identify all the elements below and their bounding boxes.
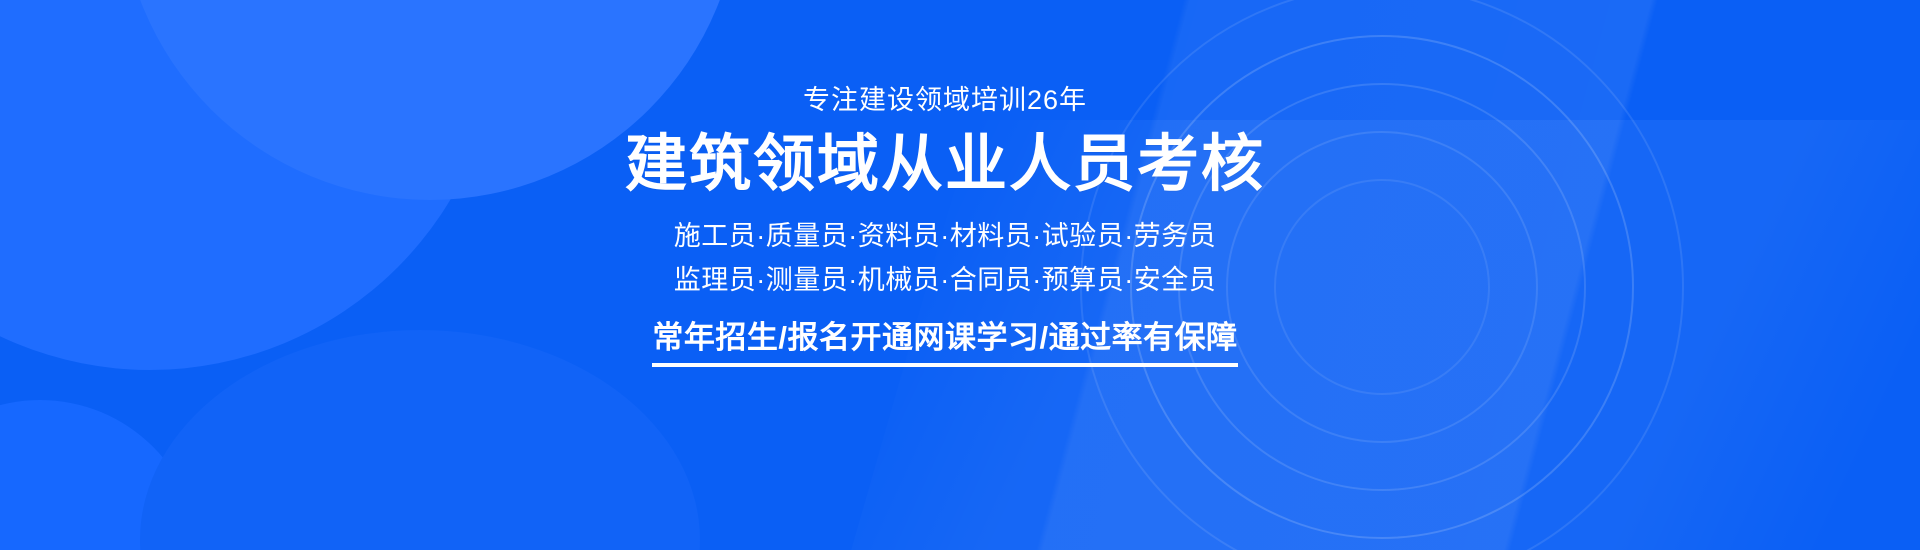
promo-banner: 专注建设领域培训26年 建筑领域从业人员考核 施工员·质量员·资料员·材料员·试… (0, 0, 1920, 550)
banner-cta-text[interactable]: 常年招生/报名开通网课学习/通过率有保障 (652, 319, 1237, 367)
banner-eyebrow: 专注建设领域培训26年 (803, 84, 1087, 116)
banner-headline: 建筑领域从业人员考核 (625, 132, 1265, 197)
banner-content: 专注建设领域培训26年 建筑领域从业人员考核 施工员·质量员·资料员·材料员·试… (0, 0, 1920, 550)
banner-roles-line-1: 施工员·质量员·资料员·材料员·试验员·劳务员 (674, 215, 1216, 259)
banner-text-stack: 专注建设领域培训26年 建筑领域从业人员考核 施工员·质量员·资料员·材料员·试… (370, 84, 1520, 367)
banner-roles-line-2: 监理员·测量员·机械员·合同员·预算员·安全员 (674, 259, 1216, 303)
